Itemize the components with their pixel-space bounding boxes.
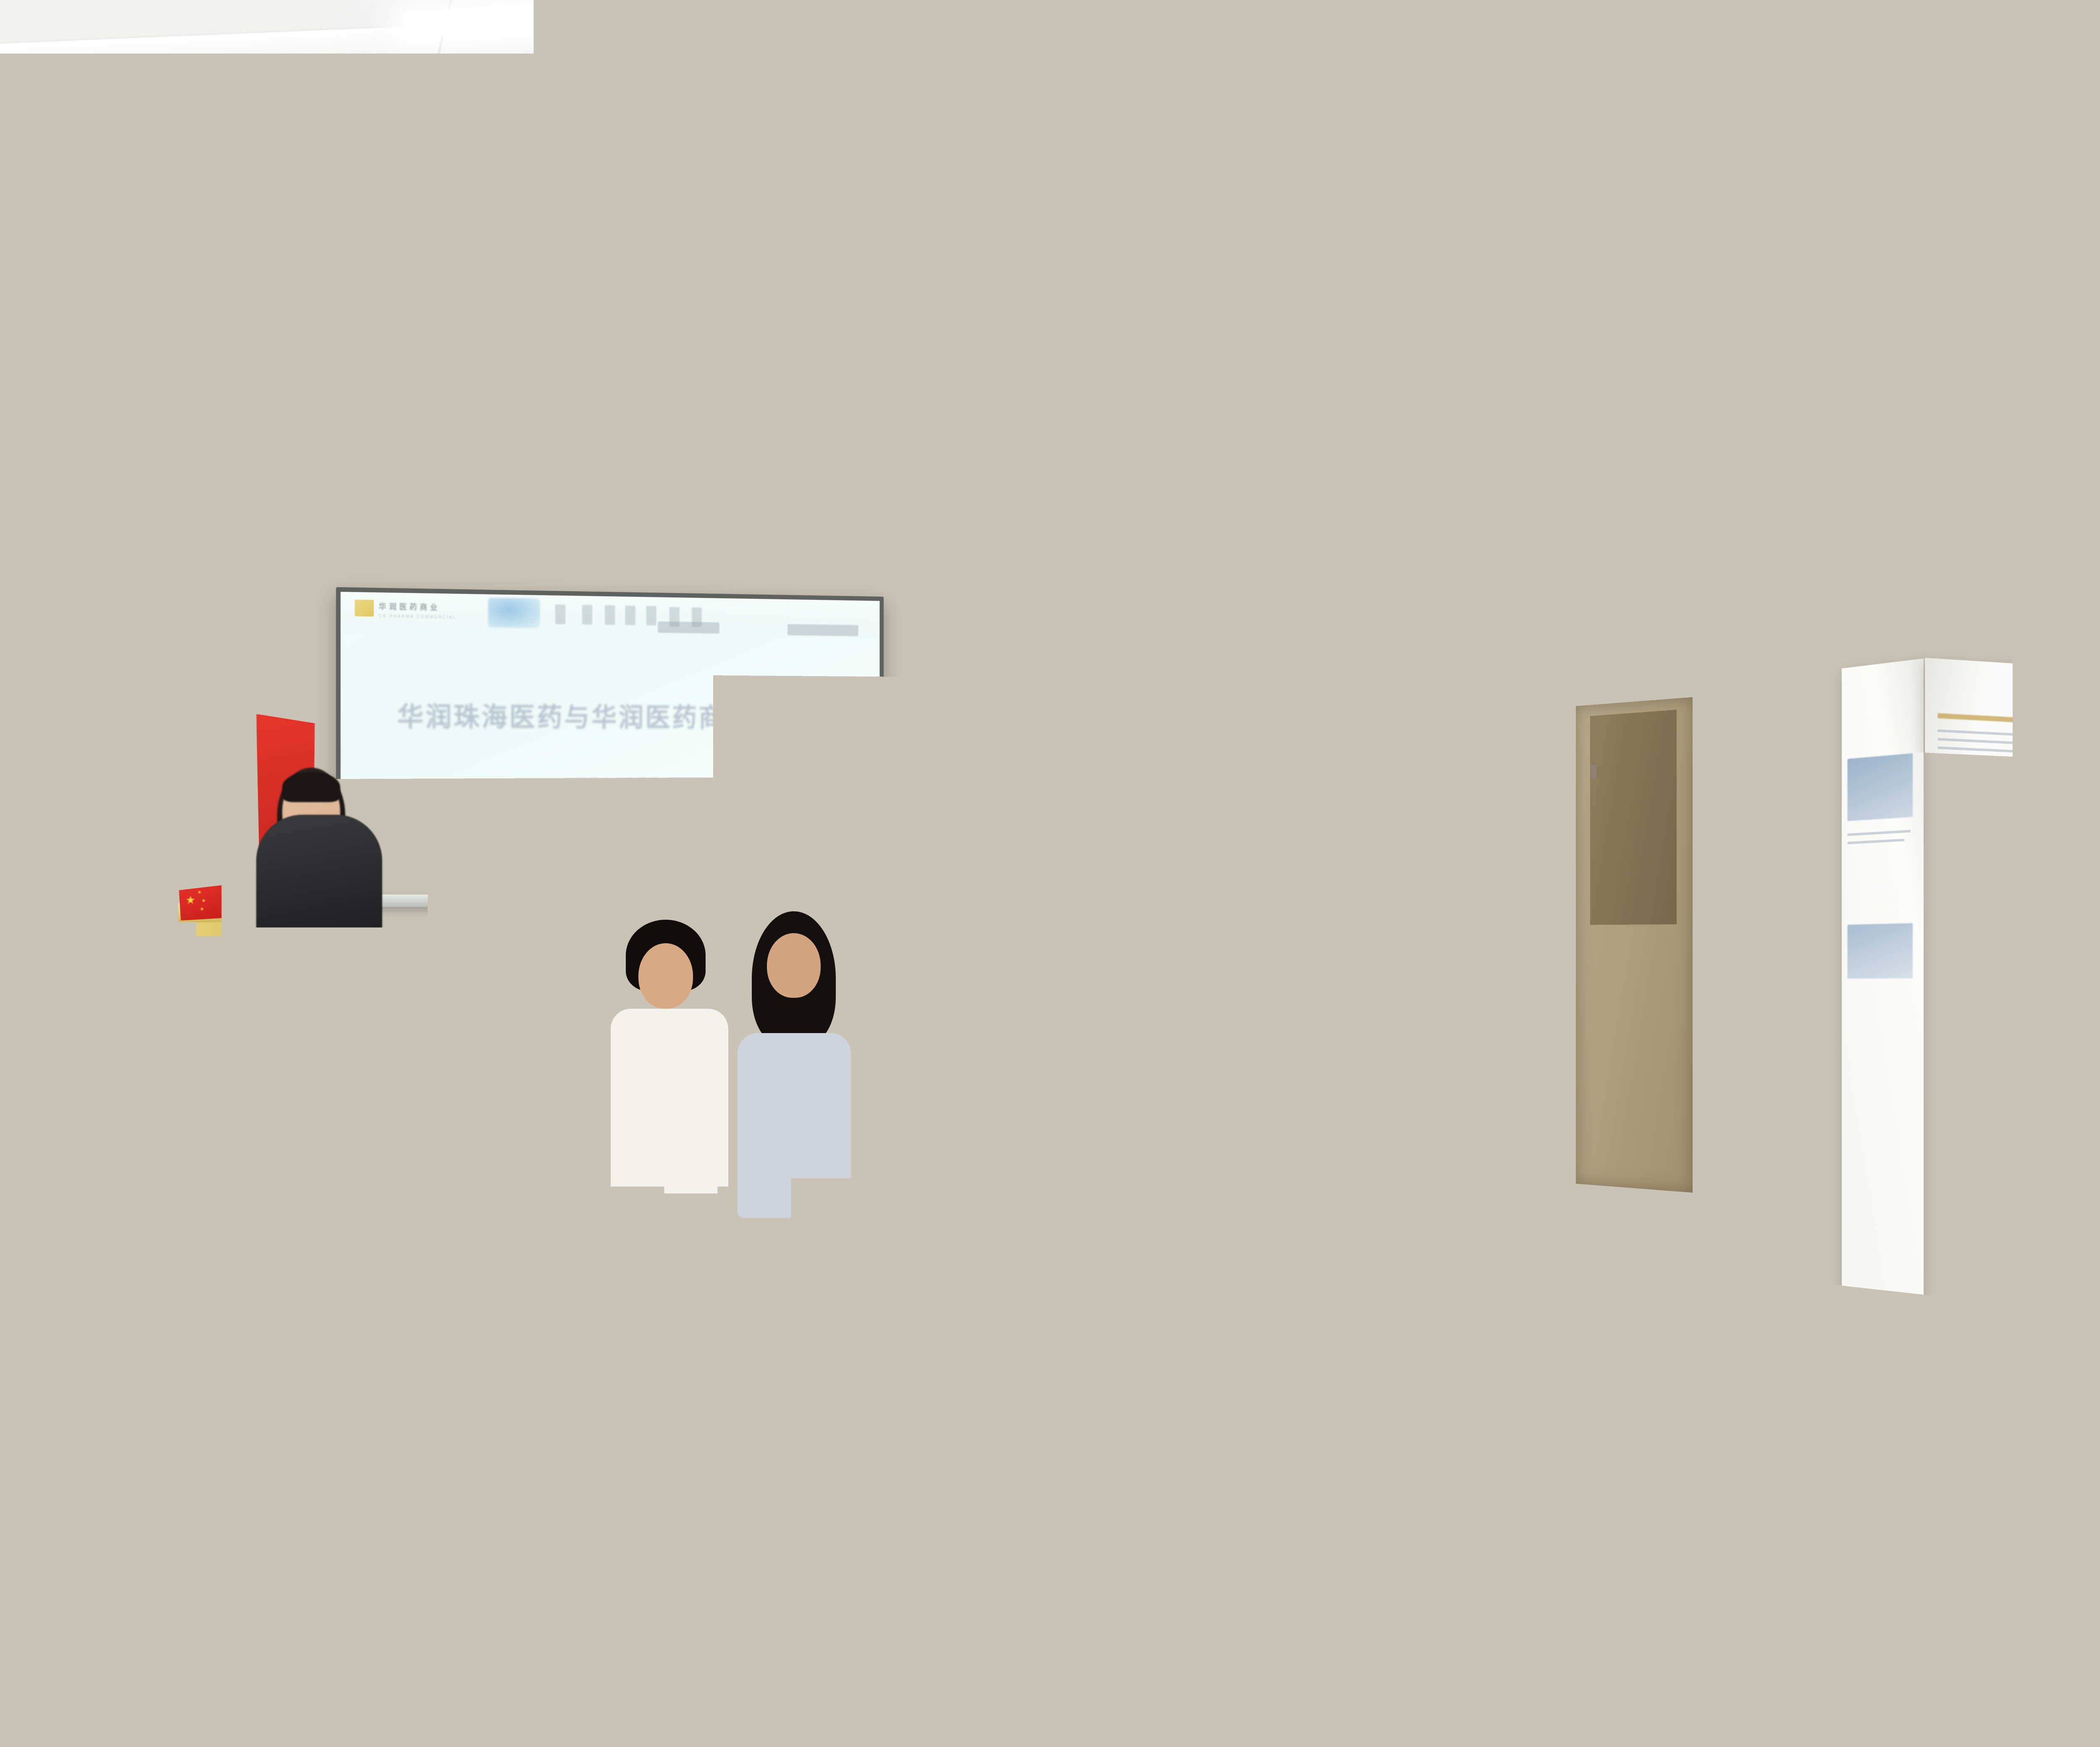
board-photo — [1937, 770, 2009, 819]
ceiling-light-panel — [1126, 364, 1361, 390]
warning-sign-text: 当心触电 注意安全 — [1064, 741, 1111, 748]
slide-logo-text: 华润医药商业 — [379, 601, 440, 613]
board-photo — [1847, 753, 1913, 821]
slide-logo-icon — [355, 600, 374, 617]
tv-accent-square-icon — [1991, 493, 2003, 506]
presenter-bangs — [282, 772, 340, 802]
projected-slide: 华润医药商业 CR PHARMA COMMERCIAL 华润珠海医药与华润医药商… — [341, 592, 879, 893]
tv-text-right: 布局全国 — [1954, 567, 2021, 577]
emergency-exit-sign: 安全出口 EXIT — [1232, 681, 1269, 700]
eyeglasses-icon — [1637, 918, 1685, 927]
ceiling-light-panel — [546, 212, 799, 258]
china-map-graphic — [2021, 571, 2100, 647]
water-bottle[interactable] — [1494, 1057, 1511, 1108]
slide-title: 华润珠海医药与华润医药商业的故事 — [375, 700, 849, 734]
ceiling-projector — [924, 454, 1029, 501]
board-photo — [2015, 774, 2084, 822]
foreground-head — [588, 995, 966, 1344]
tv-text-left: 企业简介 发展历程 — [1778, 594, 1845, 604]
water-bottle[interactable] — [1850, 1073, 1870, 1145]
slide-ribbon-icon — [488, 598, 540, 628]
notice-header-label: 消防安全检查记录表 — [1382, 779, 1431, 790]
water-bottle[interactable] — [1574, 1071, 1593, 1133]
water-bottle[interactable] — [1897, 1201, 1924, 1327]
tv-photo-thumbnail — [1862, 567, 1932, 629]
tv-title-chip-left — [1869, 503, 1926, 520]
desk-chinese-flag: ★ ★ ★ ★ — [179, 884, 228, 921]
ceiling-light-panel — [621, 89, 874, 131]
panel-top-image — [0, 265, 85, 354]
water-bottle[interactable] — [1770, 1049, 1790, 1116]
desk-chinese-flag: ★ ★ ★ ★ — [232, 883, 281, 919]
panel-text-line-1: 也上远 — [0, 773, 42, 801]
notice-header-bar: 消防安全检查记录表 — [1382, 779, 1431, 790]
banner-pole — [160, 596, 166, 701]
panel-text-line-3: 携手并 — [0, 894, 42, 920]
ceiling-speaker-icon — [718, 139, 738, 154]
electrical-warning-sign: 当心触电 注意安全 — [1063, 739, 1113, 766]
projection-screen: 华润医药商业 CR PHARMA COMMERCIAL 华润珠海医药与华润医药商… — [336, 587, 884, 898]
ceiling-light-panel — [1881, 260, 2100, 310]
foreground-white-shirt — [470, 1335, 1092, 1747]
water-bottle-on-floor[interactable] — [912, 987, 926, 1025]
water-bottle[interactable] — [1998, 1078, 2020, 1165]
panel-red-tab — [82, 427, 86, 477]
water-bottle[interactable] — [1390, 1209, 1414, 1306]
water-bottle-on-floor[interactable] — [295, 1310, 316, 1386]
warning-sign-label: 当心触电 注意安全 — [1064, 741, 1111, 748]
water-bottle[interactable] — [1097, 974, 1111, 1012]
foreground-ear — [937, 1172, 987, 1247]
tv-title-chip-right — [2006, 490, 2090, 512]
ceiling-light-panel — [1974, 13, 2100, 58]
water-bottle[interactable] — [1423, 1086, 1440, 1140]
conference-room-photo: 安全出口 EXIT 消防安全检查记录表 会议室 当心触电 注意安全 — [0, 0, 2100, 1747]
warning-sign-stripes — [1064, 748, 1111, 757]
yellow-storage-cabinet — [189, 1041, 386, 1218]
ceiling-light-panel — [210, 223, 454, 273]
exit-sign-label: 安全出口 EXIT — [1232, 687, 1269, 695]
face-mask — [1378, 882, 1421, 910]
projector-mount-rod — [958, 405, 962, 458]
ceiling-light-panel — [1008, 104, 1252, 131]
banner-logo-icon — [131, 725, 182, 747]
smoke-detector-icon — [676, 265, 717, 291]
ceiling-light-panel — [1940, 136, 2100, 187]
water-bottle[interactable] — [1841, 1219, 1869, 1355]
table-cable-grommet — [1268, 1381, 1401, 1392]
podium-logo-icon — [232, 1023, 255, 1041]
board-photo — [1684, 739, 1821, 813]
ceiling-light-panel — [302, 101, 547, 147]
panel-text-line-2: 。 — [0, 825, 3, 851]
